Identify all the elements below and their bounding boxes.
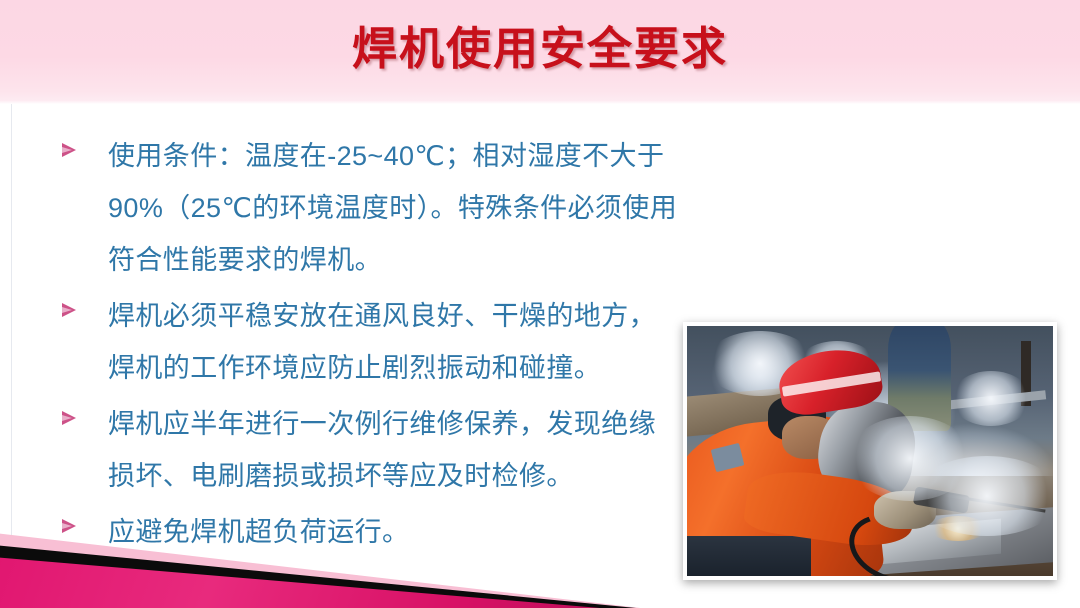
photo-welder-trousers xyxy=(687,536,811,576)
arrow-bullet-icon xyxy=(62,519,76,533)
page-title: 焊机使用安全要求 xyxy=(0,20,1080,78)
arrow-bullet-icon xyxy=(62,303,76,317)
list-item-text: 使用条件：温度在-25~40℃；相对湿度不大于90%（25℃的环境温度时）。特殊… xyxy=(108,130,678,286)
welder-photo xyxy=(683,322,1057,580)
photo-smoke xyxy=(951,371,1032,426)
list-item: 应避免焊机超负荷运行。 xyxy=(58,506,678,558)
arrow-bullet-icon xyxy=(62,143,76,157)
frame-hairline-left xyxy=(11,104,12,608)
welder-photo-canvas xyxy=(687,326,1053,576)
arrow-bullet-icon xyxy=(62,411,76,425)
list-item: 使用条件：温度在-25~40℃；相对湿度不大于90%（25℃的环境温度时）。特殊… xyxy=(58,130,678,286)
list-item-text: 焊机应半年进行一次例行维修保养，发现绝缘损坏、电刷磨损或损坏等应及时检修。 xyxy=(108,398,678,502)
list-item-text: 焊机必须平稳安放在通风良好、干燥的地方，焊机的工作环境应防止剧烈振动和碰撞。 xyxy=(108,290,678,394)
list-item-text: 应避免焊机超负荷运行。 xyxy=(108,506,678,558)
bullet-list: 使用条件：温度在-25~40℃；相对湿度不大于90%（25℃的环境温度时）。特殊… xyxy=(58,130,678,562)
slide-root: 焊机使用安全要求 使用条件：温度在-25~40℃；相对湿度不大于90%（25℃的… xyxy=(0,0,1080,608)
list-item: 焊机必须平稳安放在通风良好、干燥的地方，焊机的工作环境应防止剧烈振动和碰撞。 xyxy=(58,290,678,394)
list-item: 焊机应半年进行一次例行维修保养，发现绝缘损坏、电刷磨损或损坏等应及时检修。 xyxy=(58,398,678,502)
photo-smoke xyxy=(914,456,1053,536)
